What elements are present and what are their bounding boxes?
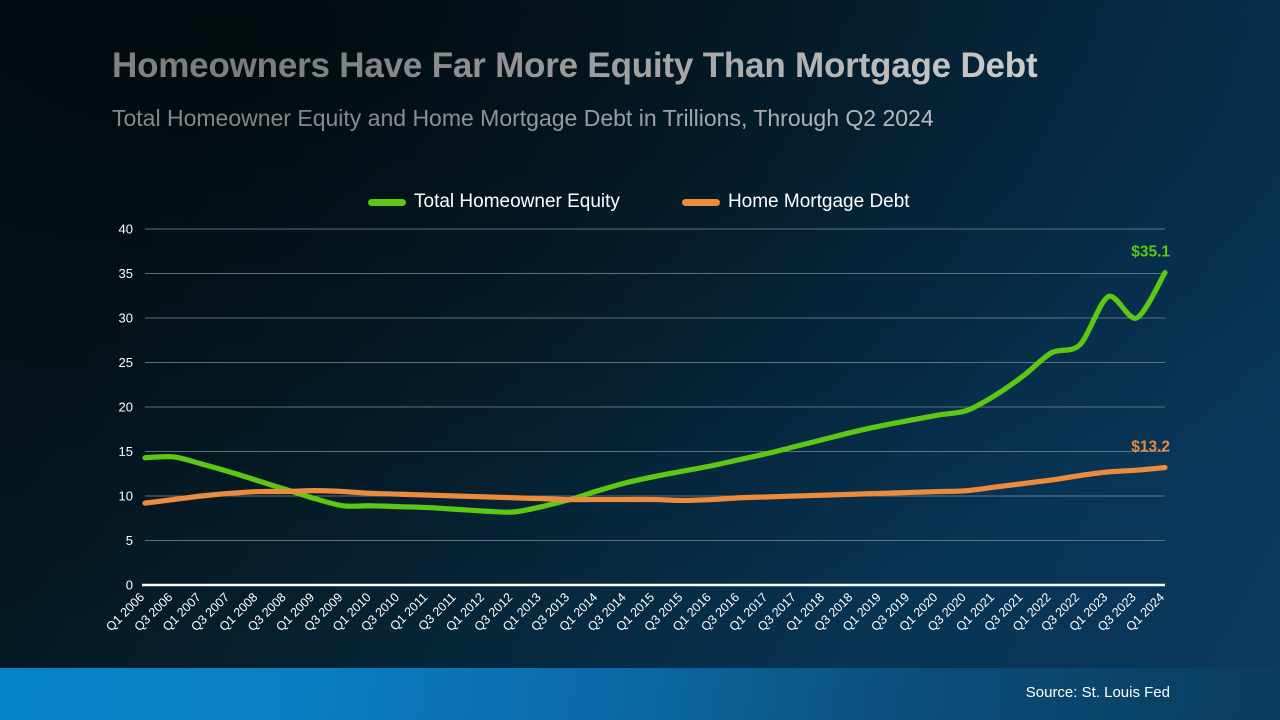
legend-label-total-homeowner-equity: Total Homeowner Equity [414, 191, 620, 213]
legend-item-total-homeowner-equity[interactable]: Total Homeowner Equity [368, 191, 620, 213]
series-end-label-equity: $35.1 [1131, 244, 1170, 261]
y-axis-tick-label: 20 [119, 400, 133, 415]
chart-legend: Total Homeowner Equity Home Mortgage Deb… [368, 191, 910, 213]
chart-x-axis-labels: Q1 2006Q3 2006Q1 2007Q3 2007Q1 2008Q3 20… [103, 590, 1167, 634]
y-axis-tick-label: 5 [126, 533, 133, 548]
legend-swatch-orange-icon [682, 199, 720, 206]
chart-y-axis-labels: 0510152025303540 [119, 222, 133, 593]
source-credit: Source: St. Louis Fed [1026, 684, 1170, 701]
legend-item-home-mortgage-debt[interactable]: Home Mortgage Debt [682, 191, 910, 213]
legend-label-home-mortgage-debt: Home Mortgage Debt [728, 191, 910, 213]
series-line-total-homeowner-equity [145, 273, 1165, 513]
y-axis-tick-label: 40 [119, 222, 133, 237]
chart-series-lines [145, 273, 1165, 513]
y-axis-tick-label: 30 [119, 311, 133, 326]
line-chart: 0510152025303540 Q1 2006Q3 2006Q1 2007Q3… [0, 0, 1280, 720]
legend-swatch-green-icon [368, 199, 406, 206]
y-axis-tick-label: 10 [119, 489, 133, 504]
series-end-label-debt: $13.2 [1131, 439, 1170, 456]
slide-canvas: Homeowners Have Far More Equity Than Mor… [0, 0, 1280, 720]
series-line-home-mortgage-debt [145, 468, 1165, 504]
y-axis-tick-label: 25 [119, 355, 133, 370]
y-axis-tick-label: 35 [119, 266, 133, 281]
y-axis-tick-label: 0 [126, 578, 133, 593]
y-axis-tick-label: 15 [119, 444, 133, 459]
